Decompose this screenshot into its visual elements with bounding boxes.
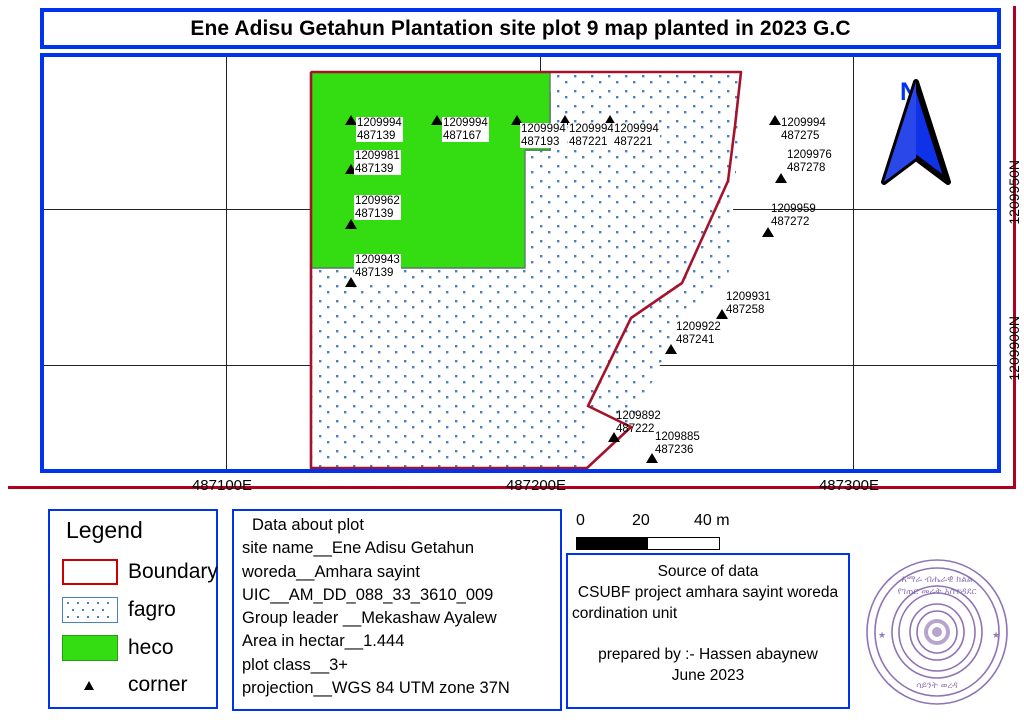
legend-item-corner[interactable]: corner xyxy=(62,673,188,697)
prepared-date: June 2023 xyxy=(572,665,844,686)
heco-swatch-icon xyxy=(62,635,118,661)
scale-tick-label: 40 m xyxy=(694,512,730,530)
corner-label: 1209994 487139 xyxy=(356,117,403,142)
scale-tick-label: 20 xyxy=(632,512,650,530)
y-axis-tick-label: 1209950N xyxy=(1006,160,1022,225)
fagro-dots-icon xyxy=(63,598,116,621)
legend-title: Legend xyxy=(66,517,143,544)
scale-bar-graphic xyxy=(576,537,720,550)
data-line-woreda: woreda__Amhara sayint xyxy=(242,561,560,584)
corner-label: 1209994 487275 xyxy=(780,117,827,142)
x-axis-tick-label: 487200E xyxy=(506,477,566,494)
source-of-data-panel: Source of data CSUBF project amhara sayi… xyxy=(566,553,850,709)
corner-marker xyxy=(345,219,357,229)
legend-item-label: heco xyxy=(128,636,174,660)
x-axis-tick-label: 487100E xyxy=(192,477,252,494)
corner-marker-icon xyxy=(62,675,118,695)
prepared-by: prepared by :- Hassen abaynew xyxy=(572,644,844,665)
corner-label: 1209959 487272 xyxy=(770,203,817,228)
heco-fill-main xyxy=(311,72,525,268)
source-line-2: cordination unit xyxy=(572,603,844,624)
legend-item-boundary[interactable]: Boundary xyxy=(62,559,218,585)
x-axis-tick-label: 487300E xyxy=(819,477,879,494)
svg-text:የገጠር መሬት አስተዳደር: የገጠር መሬት አስተዳደር xyxy=(897,587,976,597)
data-panel-header: Data about plot xyxy=(242,514,560,537)
fagro-swatch-icon xyxy=(62,597,118,623)
corner-label: 1209962 487139 xyxy=(354,195,401,220)
corner-label: 1209922 487241 xyxy=(675,321,722,346)
svg-text:★: ★ xyxy=(992,631,1000,641)
corner-marker xyxy=(762,227,774,237)
boundary-swatch-icon xyxy=(62,559,118,585)
scale-bar: 0 20 40 m xyxy=(576,512,776,550)
data-line-group-leader: Group leader __Mekashaw Ayalew xyxy=(242,607,560,630)
scale-bar-segment-white xyxy=(648,538,719,549)
legend-item-heco[interactable]: heco xyxy=(62,635,174,661)
corner-label: 1209943 487139 xyxy=(354,254,401,279)
map-title-bar: Ene Adisu Getahun Plantation site plot 9… xyxy=(40,8,1001,49)
data-line-site-name: site name__Ene Adisu Getahun xyxy=(242,537,560,560)
svg-text:አማራ ብሔራዊ ክልል: አማራ ብሔራዊ ክልል xyxy=(902,575,973,585)
y-axis-tick-label: 1209900N xyxy=(1006,316,1022,381)
official-stamp-icon: አማራ ብሔራዊ ክልል የገጠር መሬት አስተዳደር ሳይንት ወረዳ ★ … xyxy=(862,556,1012,708)
scale-bar-ticks: 0 20 40 m xyxy=(576,512,776,534)
legend-item-label: fagro xyxy=(128,598,176,622)
data-line-plot-class: plot class__3+ xyxy=(242,654,560,677)
legend-item-label: corner xyxy=(128,673,188,697)
legend-item-fagro[interactable]: fagro xyxy=(62,597,176,623)
source-header: Source of data xyxy=(572,561,844,582)
data-about-plot-panel: Data about plot site name__Ene Adisu Get… xyxy=(232,509,562,711)
data-line-projection: projection__WGS 84 UTM zone 37N xyxy=(242,677,560,700)
legend-item-label: Boundary xyxy=(128,560,218,584)
corner-label: 1209994 487221 xyxy=(568,123,615,148)
corner-label: 1209994 487193 xyxy=(520,123,567,148)
legend-panel: Legend Boundary fagro xyxy=(48,509,218,709)
corner-label: 1209931 487258 xyxy=(725,291,772,316)
north-arrow-icon xyxy=(880,78,952,188)
map-frame[interactable]: 1209994 487139 1209994 487167 1209994 48… xyxy=(40,53,1001,473)
page-title: Ene Adisu Getahun Plantation site plot 9… xyxy=(190,17,850,41)
scale-tick-label: 0 xyxy=(576,512,585,530)
data-line-uic: UIC__AM_DD_088_33_3610_009 xyxy=(242,584,560,607)
source-line-1: CSUBF project amhara sayint woreda xyxy=(572,582,844,603)
corner-label: 1209885 487236 xyxy=(654,431,701,456)
data-line-area: Area in hectar__1.444 xyxy=(242,630,560,653)
corner-label: 1209976 487278 xyxy=(786,149,833,174)
corner-label: 1209994 487167 xyxy=(442,117,489,142)
svg-text:ሳይንት ወረዳ: ሳይንት ወረዳ xyxy=(916,681,958,691)
map-canvas[interactable]: 1209994 487139 1209994 487167 1209994 48… xyxy=(44,57,997,469)
scale-bar-segment-black xyxy=(577,538,648,549)
corner-label: 1209994 487221 xyxy=(613,123,660,148)
svg-text:★: ★ xyxy=(878,631,886,641)
corner-marker xyxy=(775,173,787,183)
corner-label: 1209981 487139 xyxy=(354,150,401,175)
